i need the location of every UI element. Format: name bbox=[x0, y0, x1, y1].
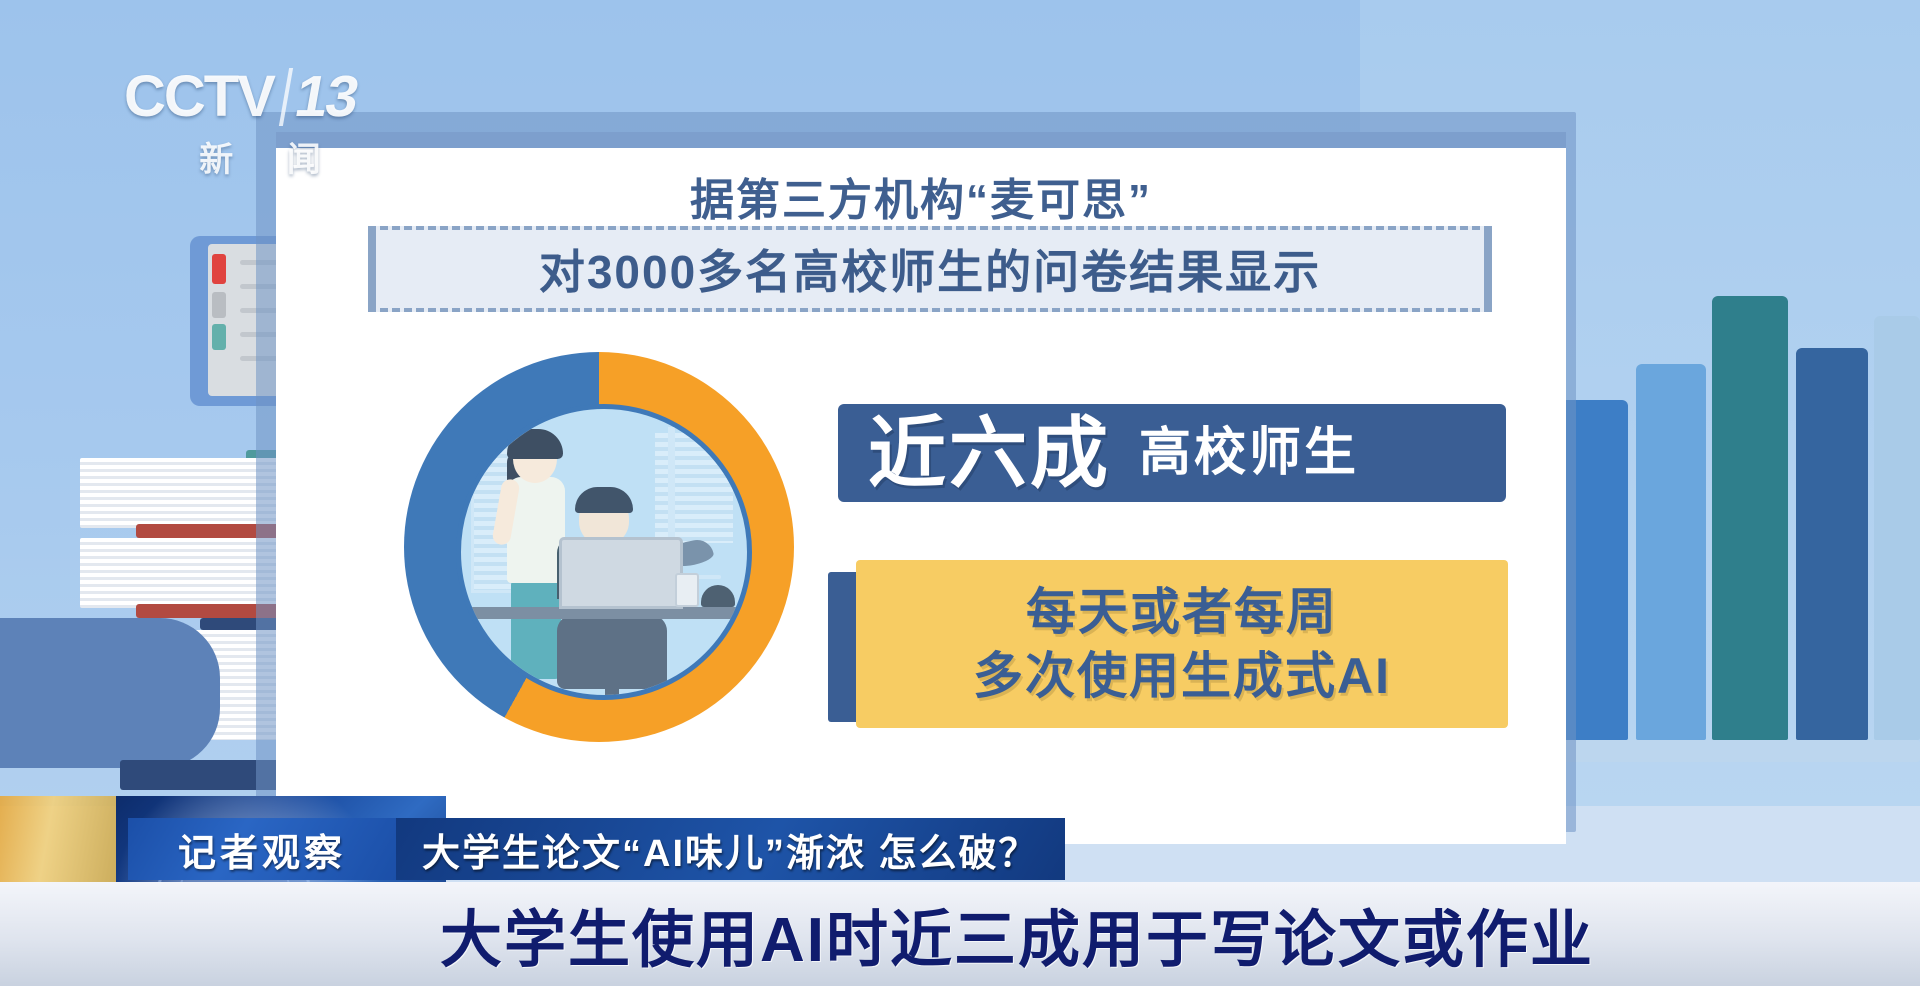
infographic-subtitle: 对3000多名高校师生的问卷结果显示 bbox=[539, 236, 1321, 302]
highlight-value: 近六成 bbox=[868, 414, 1111, 492]
lower-third: 记者观察 大学生论文“AI味儿”渐浓 怎么破？ 大学生使用AI时近三成用于写论文… bbox=[0, 766, 1920, 986]
cctv-logo-text: CCTV bbox=[124, 68, 274, 126]
woman-hair bbox=[507, 429, 563, 459]
man-hair bbox=[575, 487, 633, 513]
lower-third-headline-bar: 大学生使用AI时近三成用于写论文或作业 bbox=[0, 882, 1920, 986]
detail-box: 每天或者每周 多次使用生成式AI bbox=[856, 560, 1508, 728]
cup-icon bbox=[675, 573, 699, 607]
laptop-chip-red bbox=[212, 254, 226, 284]
card-top-accent-bar bbox=[276, 132, 1566, 148]
laptop-chip-teal bbox=[212, 324, 226, 350]
donut-chart bbox=[404, 352, 794, 742]
lower-third-tag: 记者观察 bbox=[128, 818, 396, 880]
office-chair bbox=[557, 615, 667, 689]
lower-third-headline: 大学生使用AI时近三成用于写论文或作业 bbox=[440, 889, 1594, 979]
broadcast-screen: CCTV 13 新 闻 据第三方机构“麦可思” 对3000多名高校师生的问卷结果… bbox=[0, 0, 1920, 986]
highlight-label: 高校师生 bbox=[1139, 427, 1359, 479]
channel-logo: CCTV 13 新 闻 bbox=[124, 68, 404, 178]
channel-name: 新 闻 bbox=[124, 132, 404, 181]
shelf-book-navy bbox=[1796, 348, 1868, 740]
detail-line-2: 多次使用生成式AI bbox=[973, 644, 1391, 708]
lower-third-subtitle: 大学生论文“AI味儿”渐浓 怎么破？ bbox=[396, 818, 1065, 880]
shelf-book-darkteal bbox=[1712, 296, 1788, 740]
shelf-book-lightblue bbox=[1636, 364, 1706, 740]
infographic-subtitle-band: 对3000多名高校师生的问卷结果显示 bbox=[368, 226, 1492, 312]
woman-legs bbox=[511, 579, 561, 679]
lower-third-top-row: 记者观察 大学生论文“AI味儿”渐浓 怎么破？ bbox=[128, 818, 1065, 880]
window-blinds-right-icon bbox=[655, 433, 733, 543]
highlight-banner: 近六成 高校师生 bbox=[838, 404, 1506, 502]
channel-number: 13 bbox=[279, 68, 370, 126]
lower-third-gold-streak bbox=[0, 796, 120, 882]
laptop-icon bbox=[559, 537, 683, 609]
cctv-wordmark: CCTV 13 bbox=[124, 68, 404, 126]
shelf-book-pale bbox=[1874, 316, 1920, 740]
desk-bell-icon bbox=[701, 585, 735, 607]
donut-center-illustration bbox=[456, 404, 752, 700]
infographic-title: 据第三方机构“麦可思” bbox=[276, 164, 1566, 228]
detail-line-1: 每天或者每周 bbox=[1026, 580, 1338, 644]
open-book bbox=[0, 618, 220, 768]
laptop-chip-grey bbox=[212, 292, 226, 318]
